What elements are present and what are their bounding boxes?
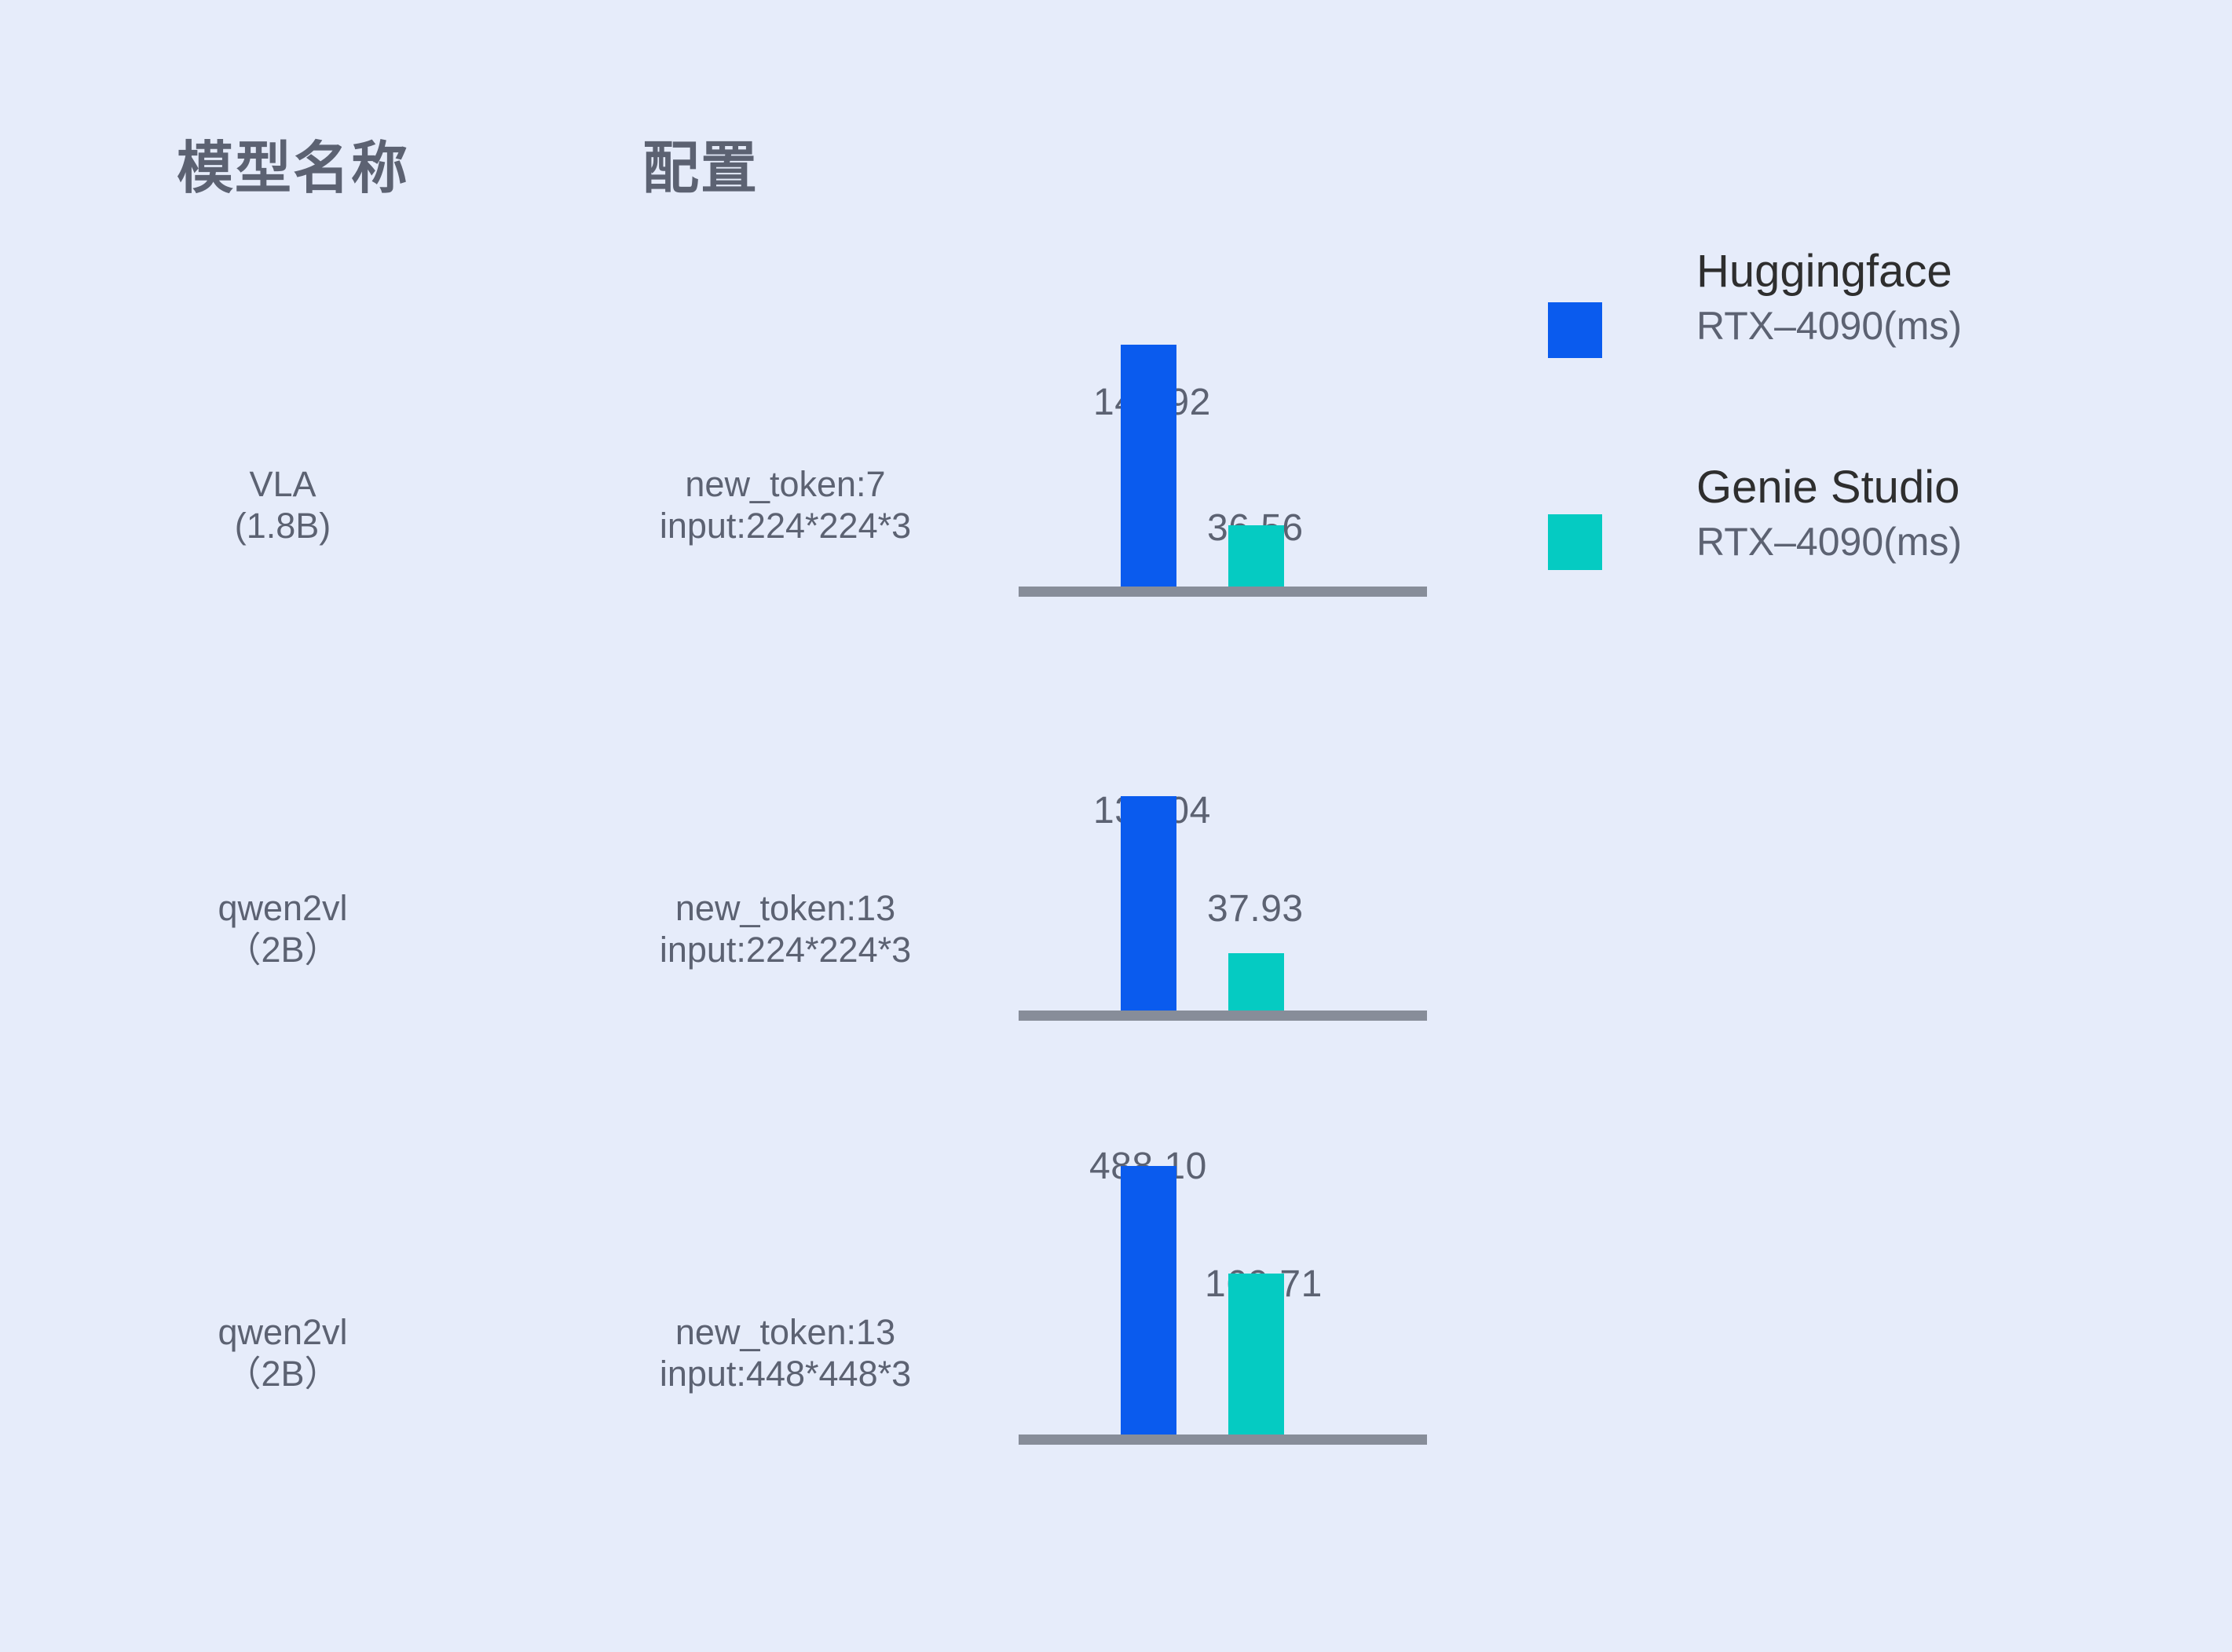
bar-plot: 131.04 37.93 <box>1019 660 1435 1021</box>
bar-genie-studio[interactable] <box>1228 525 1284 587</box>
row-model-line2: （2B） <box>141 929 424 970</box>
legend-text-block: Genie Studio RTX–4090(ms) <box>1696 459 2089 568</box>
row-config-line2: input:224*224*3 <box>471 929 1100 970</box>
bar-plot: 141.92 36.56 <box>1019 236 1435 597</box>
bar-genie-studio[interactable] <box>1228 953 1284 1011</box>
row-model-line2: （2B） <box>141 1353 424 1394</box>
bar-huggingface[interactable] <box>1121 345 1176 587</box>
row-config-line1: new_token:7 <box>685 464 885 504</box>
legend-subtitle: RTX–4090(ms) <box>1696 301 2089 352</box>
row-config-label: new_token:13 input:448*448*3 <box>471 1311 1100 1394</box>
legend-swatch-icon <box>1548 302 1602 358</box>
legend: Huggingface RTX–4090(ms) Genie Studio RT… <box>1539 243 2089 589</box>
chart-canvas: 模型名称 配置 VLA (1.8B) new_token:7 input:224… <box>0 0 2232 1652</box>
column-header-row: 模型名称 配置 <box>0 122 2232 216</box>
bar-value-genie-studio: 37.93 <box>1207 887 1304 930</box>
row-model-label: qwen2vl （2B） <box>141 1311 424 1394</box>
row-model-line1: qwen2vl <box>218 1312 347 1352</box>
bar-huggingface[interactable] <box>1121 796 1176 1011</box>
table-row: qwen2vl （2B） new_token:13 input:224*224*… <box>0 660 2232 1084</box>
legend-swatch-icon <box>1548 514 1602 570</box>
row-config-line1: new_token:13 <box>675 888 895 928</box>
column-header-model-name: 模型名称 <box>177 122 409 204</box>
row-config-line1: new_token:13 <box>675 1312 895 1352</box>
row-model-label: VLA (1.8B) <box>141 463 424 546</box>
column-header-config: 配置 <box>642 122 759 204</box>
row-config-line2: input:224*224*3 <box>471 505 1100 546</box>
table-row: qwen2vl （2B） new_token:13 input:448*448*… <box>0 1084 2232 1508</box>
row-config-label: new_token:13 input:224*224*3 <box>471 887 1100 970</box>
baseline-axis <box>1019 1435 1427 1445</box>
row-model-line1: VLA <box>249 464 316 504</box>
row-config-label: new_token:7 input:224*224*3 <box>471 463 1100 546</box>
baseline-axis <box>1019 1011 1427 1021</box>
row-model-label: qwen2vl （2B） <box>141 887 424 970</box>
legend-text-block: Huggingface RTX–4090(ms) <box>1696 243 2089 352</box>
baseline-axis <box>1019 587 1427 597</box>
legend-subtitle: RTX–4090(ms) <box>1696 517 2089 568</box>
legend-title: Genie Studio <box>1696 459 2089 517</box>
legend-title: Huggingface <box>1696 243 2089 301</box>
row-config-line2: input:448*448*3 <box>471 1353 1100 1394</box>
bar-genie-studio[interactable] <box>1228 1274 1284 1435</box>
bar-plot: 488.10 160.71 <box>1019 1084 1435 1445</box>
row-model-line1: qwen2vl <box>218 888 347 928</box>
bar-huggingface[interactable] <box>1121 1166 1176 1445</box>
row-model-line2: (1.8B) <box>141 505 424 546</box>
